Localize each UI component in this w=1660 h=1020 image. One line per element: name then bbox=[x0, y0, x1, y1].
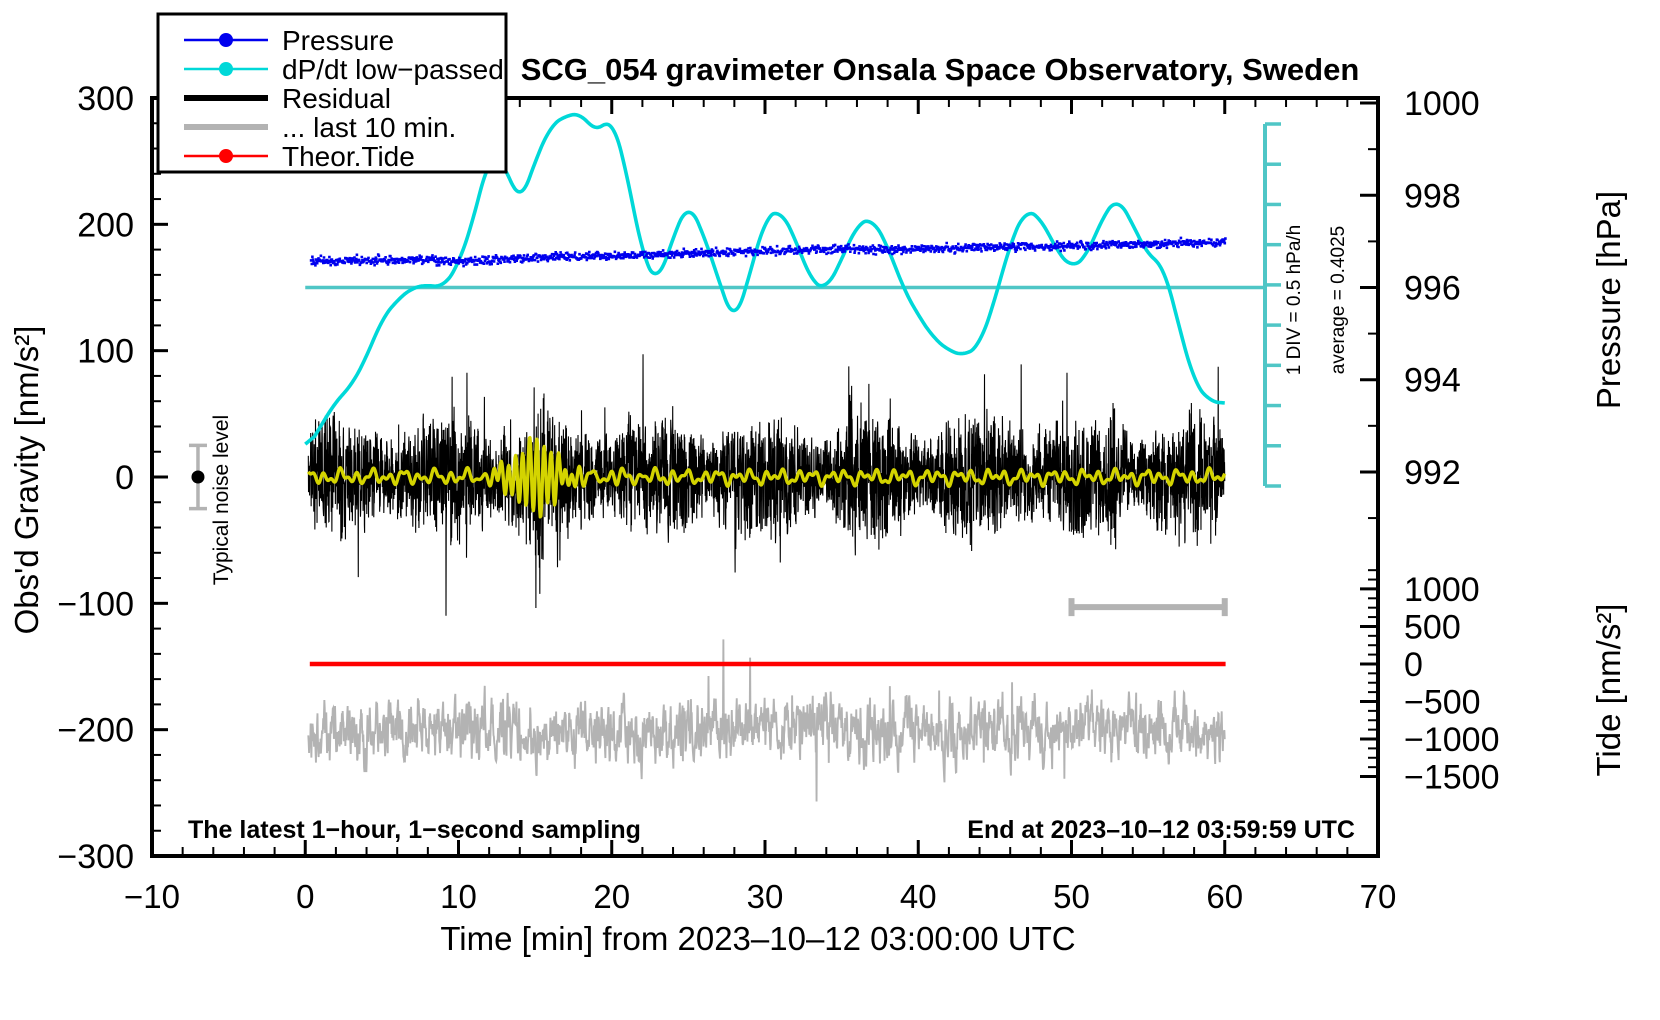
y-axis-label-gravity: Obs'd Gravity [nm/s²] bbox=[8, 326, 45, 635]
y-tick-label-tide: −500 bbox=[1404, 683, 1481, 721]
y-tick-label-gravity: −300 bbox=[57, 838, 134, 876]
legend-label: Residual bbox=[282, 83, 391, 114]
x-tick-label: 60 bbox=[1206, 878, 1243, 915]
noise-center-dot bbox=[191, 471, 204, 484]
y-tick-label-gravity: 300 bbox=[77, 80, 134, 118]
legend-swatch-dot bbox=[219, 62, 233, 76]
series-theoretical-tide bbox=[310, 662, 1226, 666]
footer-left-note: The latest 1−hour, 1−second sampling bbox=[188, 816, 641, 844]
y-tick-label-pressure: 998 bbox=[1404, 177, 1461, 215]
y-tick-label-gravity: 0 bbox=[115, 459, 134, 497]
x-tick-label: 50 bbox=[1053, 878, 1090, 915]
y-tick-label-gravity: −200 bbox=[57, 712, 134, 750]
x-tick-label: 10 bbox=[440, 878, 477, 915]
y-tick-label-pressure: 1000 bbox=[1404, 85, 1480, 123]
y-axis-label-pressure: Pressure [hPa] bbox=[1590, 191, 1627, 409]
y-tick-label-pressure: 996 bbox=[1404, 270, 1461, 308]
y-tick-label-tide: −1500 bbox=[1404, 759, 1500, 797]
x-axis-label: Time [min] from 2023–10–12 03:00:00 UTC bbox=[440, 920, 1075, 957]
x-tick-label: 30 bbox=[747, 878, 784, 915]
x-tick-label: 40 bbox=[900, 878, 937, 915]
y-tick-label-tide: −1000 bbox=[1404, 721, 1500, 759]
legend-label: Pressure bbox=[282, 25, 394, 56]
page-title: SCG_054 gravimeter Onsala Space Observat… bbox=[521, 52, 1360, 87]
y-tick-label-tide: 0 bbox=[1404, 646, 1423, 684]
legend-swatch-dot bbox=[219, 33, 233, 47]
x-tick-label: 70 bbox=[1360, 878, 1397, 915]
legend-label: ... last 10 min. bbox=[282, 112, 456, 143]
y-tick-label-tide: 500 bbox=[1404, 608, 1461, 646]
footer-right-note: End at 2023–10–12 03:59:59 UTC bbox=[967, 816, 1355, 844]
dpdt-scale-annotation: 1 DIV = 0.5 hPa/h bbox=[1284, 225, 1305, 376]
legend-label: dP/dt low−passed bbox=[282, 54, 504, 85]
x-tick-label: 20 bbox=[593, 878, 630, 915]
y-tick-label-pressure: 994 bbox=[1404, 362, 1461, 400]
legend-label: Theor.Tide bbox=[282, 141, 415, 172]
chart-legend[interactable]: PressuredP/dt low−passedResidual... last… bbox=[158, 14, 506, 172]
y-axis-label-tide: Tide [nm/s²] bbox=[1590, 604, 1627, 777]
y-tick-label-gravity: 200 bbox=[77, 206, 134, 244]
y-tick-label-gravity: −100 bbox=[57, 585, 134, 623]
noise-level-annotation: Typical noise level bbox=[210, 415, 233, 585]
gravimeter-chart: −100102030405060703002001000−100−200−300… bbox=[0, 0, 1660, 1020]
y-tick-label-tide: 1000 bbox=[1404, 571, 1480, 609]
y-tick-label-gravity: 100 bbox=[77, 333, 134, 371]
dpdt-average-annotation: average = 0.4025 bbox=[1328, 226, 1349, 374]
legend-swatch-dot bbox=[219, 149, 233, 163]
tide-trace bbox=[310, 662, 1226, 666]
chart-root: −100102030405060703002001000−100−200−300… bbox=[0, 0, 1660, 1020]
x-tick-label: 0 bbox=[296, 878, 314, 915]
x-tick-label: −10 bbox=[124, 878, 180, 915]
y-tick-label-pressure: 992 bbox=[1404, 454, 1461, 492]
